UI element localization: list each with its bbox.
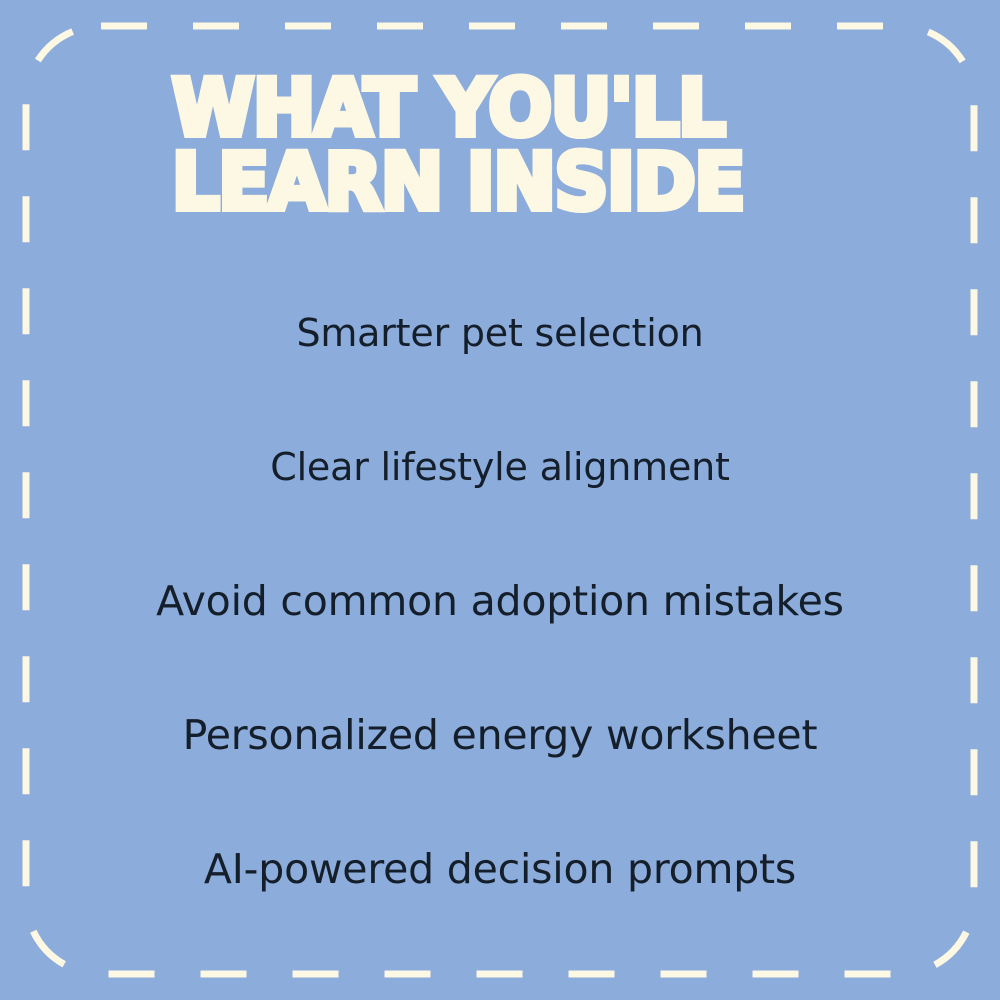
page-title-line-1: WHAT YOU'LL [172,78,914,140]
page-title: WHAT YOU'LL LEARN INSIDE [172,78,872,215]
list-item: Clear lifestyle alignment [0,400,1000,534]
list-item: Avoid common adoption mistakes [0,534,1000,668]
list-item: Personalized energy worksheet [0,668,1000,802]
page-title-line-2: LEARN INSIDE [172,152,914,214]
poster-canvas: WHAT YOU'LL LEARN INSIDE Smarter pet sel… [0,0,1000,1000]
list-item: AI-powered decision prompts [0,802,1000,936]
list-item: Smarter pet selection [0,266,1000,400]
benefit-list: Smarter pet selection Clear lifestyle al… [0,266,1000,936]
